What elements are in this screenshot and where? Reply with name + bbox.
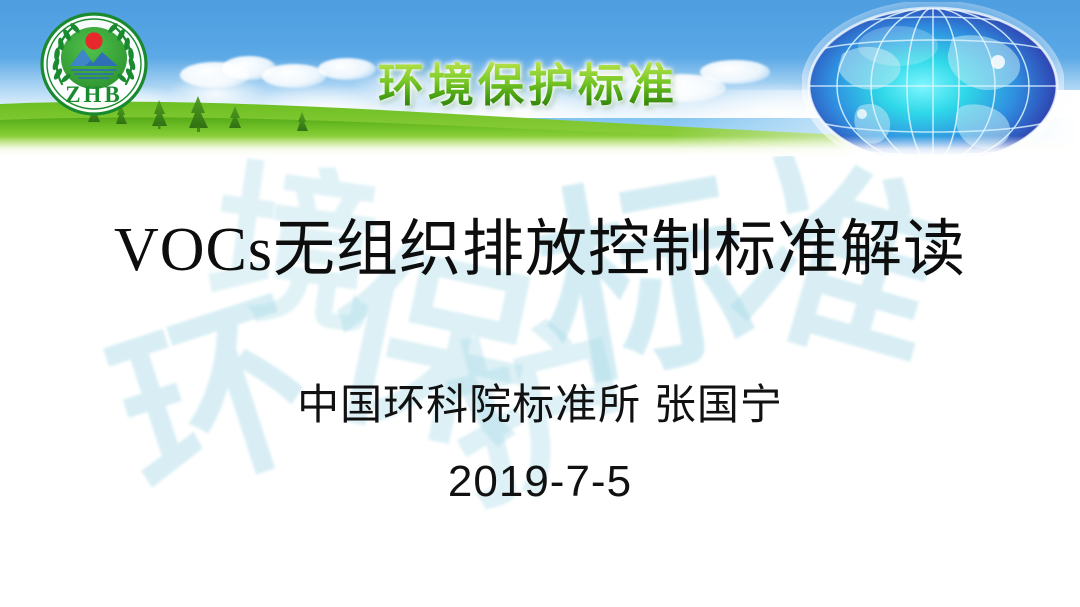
zhb-acronym-text: ZHB <box>65 82 123 107</box>
globe-icon <box>802 2 1064 156</box>
presentation-slide: ZHB 环境保护标准 <box>0 0 1080 607</box>
banner-title: 环境保护标准 <box>378 62 678 108</box>
banner-bottom-fade <box>0 136 1080 156</box>
globe-container <box>780 0 1080 156</box>
page-title: VOCs无组织排放控制标准解读 <box>0 216 1080 285</box>
date-line: 2019-7-5 <box>0 458 1080 506</box>
slide-banner: ZHB 环境保护标准 <box>0 0 1080 156</box>
presenter-line: 中国环科院标准所 张国宁 <box>0 382 1080 428</box>
zhb-emblem-logo: ZHB <box>36 8 152 124</box>
